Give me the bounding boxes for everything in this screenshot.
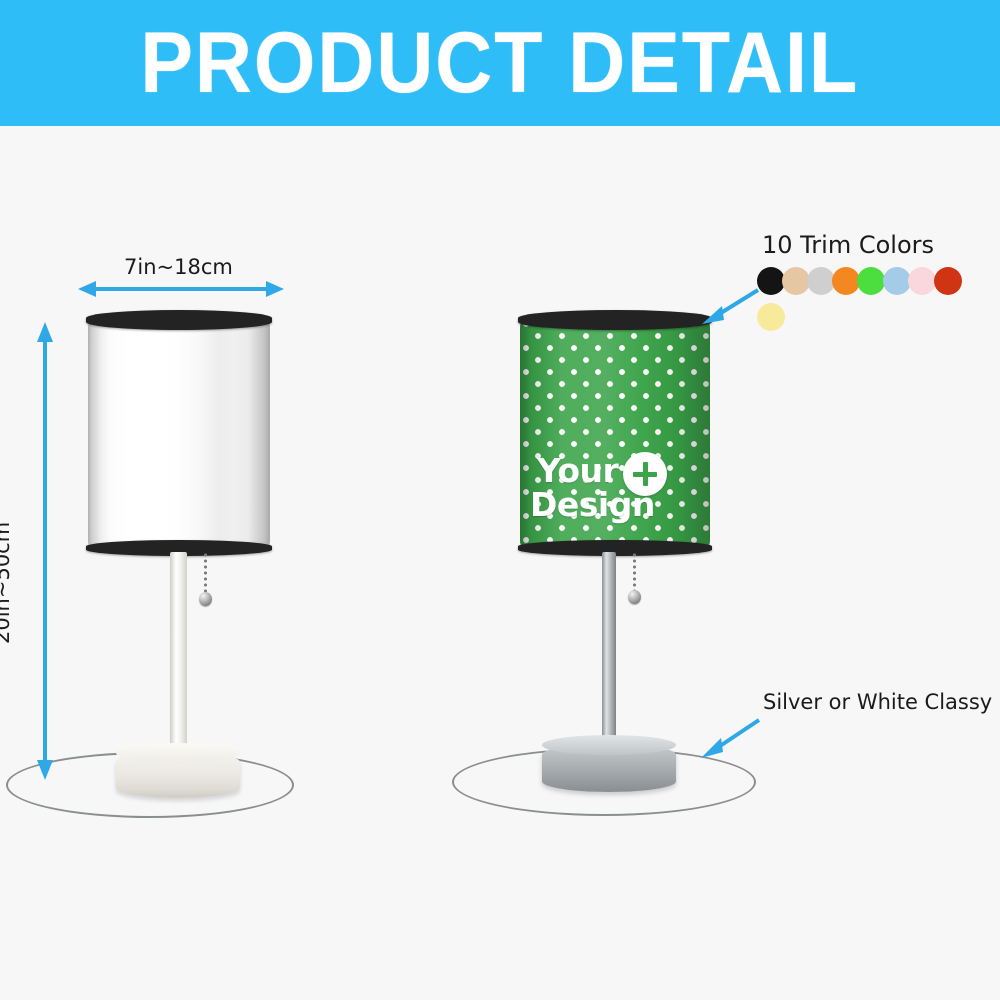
trim-colors-title: 10 Trim Colors [762,231,934,259]
height-dimension-arrow [34,322,56,780]
trim-swatch-orange[interactable] [832,267,860,295]
product-detail-page: PRODUCT DETAIL Your [0,0,1000,1000]
annotation-layer: 7in~18cm 20in~50cm 10 Trim Colors [0,0,1000,1000]
trim-swatch-green[interactable] [857,267,885,295]
trim-pointer-arrow [700,286,762,326]
base-note-label: Silver or White Classy [763,690,992,714]
height-dimension-label: 20in~50cm [0,522,14,644]
width-dimension-arrow [78,278,284,300]
trim-swatch-pink[interactable] [908,267,936,295]
trim-swatch-light-gray[interactable] [807,267,835,295]
trim-swatch-red[interactable] [934,267,962,295]
trim-swatch-tan[interactable] [782,267,810,295]
width-dimension-label: 7in~18cm [124,255,233,279]
trim-swatch-light-blue[interactable] [883,267,911,295]
base-note-arrow [697,716,763,760]
